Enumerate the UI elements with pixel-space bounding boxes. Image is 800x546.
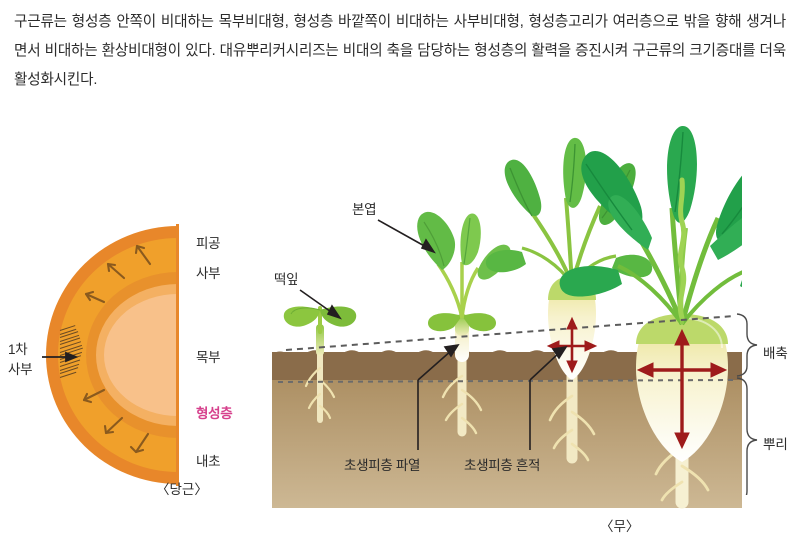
radish-growth-diagram: 떡잎 본엽 초생피층 파열 초생피층 흔적 [272,118,742,510]
radish-stage-2 [417,212,510,433]
carrot-cut-edge [176,224,179,486]
callout-label-cotyledon: 떡잎 [274,268,298,288]
carrot-label-primary-phloem-line2: 사부 [8,358,32,378]
callout-label-true-leaf: 본엽 [352,198,376,218]
section-brackets: 배축 뿌리 [735,300,800,495]
bracket-shapes [735,300,800,495]
callout-label-cortex-rupture: 초생피층 파열 [344,454,420,474]
radish-stage-1 [284,307,356,420]
bracket-label-hypocotyl: 배축 [763,342,788,362]
bracket-label-root: 뿌리 [763,433,788,453]
carrot-label-cambium: 형성층 [196,402,232,422]
carrot-label-mokbu: 목부 [196,346,220,366]
callout-label-cortex-trace: 초생피층 흔적 [464,454,540,474]
radish-caption: 〈무〉 [600,515,639,535]
radish-illustration [272,118,742,510]
carrot-label-naecho: 내초 [196,450,220,470]
carrot-label-pigong: 피공 [196,232,220,252]
carrot-label-sabu: 사부 [196,262,220,282]
carrot-cross-section-diagram: 1차 사부 피공 사부 목부 형성층 내초 [0,212,270,512]
carrot-label-primary-phloem-line1: 1차 [8,338,27,358]
carrot-caption: 〈당근〉 [156,478,208,498]
primary-phloem-hatching [60,330,90,382]
page-root: 구근류는 형성층 안쪽이 비대하는 목부비대형, 형성층 바깥쪽이 비대하는 사… [0,0,800,546]
intro-paragraph: 구근류는 형성층 안쪽이 비대하는 목부비대형, 형성층 바깥쪽이 비대하는 사… [14,8,786,95]
